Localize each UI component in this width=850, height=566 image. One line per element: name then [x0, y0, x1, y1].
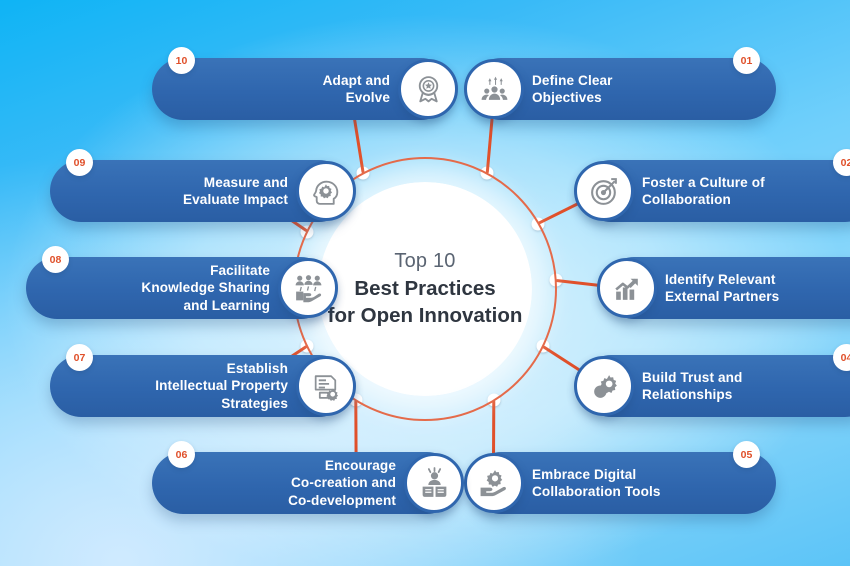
practice-label-line: External Partners — [665, 288, 779, 305]
practice-label-line: Knowledge Sharing — [141, 279, 270, 296]
practice-label-line: Adapt and — [323, 72, 390, 89]
connector-line-10 — [353, 114, 365, 173]
practice-card-06[interactable]: EncourageCo-creation andCo-development06 — [152, 452, 458, 514]
practice-label-line: Measure and — [183, 174, 288, 191]
head-gear-icon — [296, 161, 356, 221]
practice-label-01: Define ClearObjectives — [532, 72, 613, 107]
practice-badge-02: 02 — [833, 149, 850, 176]
connector-line-03 — [556, 279, 602, 287]
practice-card-03[interactable]: Identify RelevantExternal Partners03 — [603, 257, 850, 319]
document-settings-icon — [296, 356, 356, 416]
center-line-1: Top 10 — [394, 249, 455, 274]
practice-badge-04: 04 — [833, 344, 850, 371]
practice-card-02[interactable]: Foster a Culture ofCollaboration02 — [580, 160, 850, 222]
practice-label-line: Evaluate Impact — [183, 191, 288, 208]
practice-label-line: Define Clear — [532, 72, 613, 89]
practice-label-line: Foster a Culture of — [642, 174, 765, 191]
growth-chart-icon — [597, 258, 657, 318]
practice-label-line: Facilitate — [141, 262, 270, 279]
practice-card-04[interactable]: Build Trust andRelationships04 — [580, 355, 850, 417]
practice-badge-10: 10 — [168, 47, 195, 74]
practice-badge-06: 06 — [168, 441, 195, 468]
practice-label-line: Encourage — [288, 457, 396, 474]
center-circle: Top 10 Best Practices for Open Innovatio… — [318, 182, 532, 396]
award-ribbon-icon — [398, 59, 458, 119]
practice-card-10[interactable]: Adapt andEvolve10 — [152, 58, 452, 120]
hand-holding-gear-icon — [464, 453, 524, 513]
hand-people-icon — [278, 258, 338, 318]
practice-card-07[interactable]: EstablishIntellectual PropertyStrategies… — [50, 355, 350, 417]
practice-label-03: Identify RelevantExternal Partners — [665, 271, 779, 306]
connector-line-04 — [542, 345, 583, 373]
people-growth-icon — [464, 59, 524, 119]
practice-label-line: Identify Relevant — [665, 271, 779, 288]
practice-label-line: Co-creation and — [288, 474, 396, 491]
practice-label-10: Adapt andEvolve — [323, 72, 390, 107]
practice-label-line: and Learning — [141, 297, 270, 314]
practice-badge-09: 09 — [66, 149, 93, 176]
practice-label-line: Collaboration — [642, 191, 765, 208]
practice-label-line: Collaboration Tools — [532, 483, 661, 500]
gears-icon — [574, 356, 634, 416]
practice-card-05[interactable]: Embrace DigitalCollaboration Tools05 — [470, 452, 776, 514]
practice-label-08: FacilitateKnowledge Sharingand Learning — [141, 262, 270, 314]
practice-label-line: Intellectual Property — [155, 377, 288, 394]
practice-label-line: Evolve — [323, 89, 390, 106]
connector-line-01 — [485, 115, 493, 174]
practice-label-line: Relationships — [642, 386, 742, 403]
practice-card-09[interactable]: Measure andEvaluate Impact09 — [50, 160, 350, 222]
practice-badge-07: 07 — [66, 344, 93, 371]
practice-card-08[interactable]: FacilitateKnowledge Sharingand Learning0… — [26, 257, 332, 319]
person-book-icon — [404, 453, 464, 513]
practice-label-06: EncourageCo-creation andCo-development — [288, 457, 396, 509]
practice-label-line: Embrace Digital — [532, 466, 661, 483]
practice-badge-05: 05 — [733, 441, 760, 468]
practice-label-line: Build Trust and — [642, 369, 742, 386]
infographic-canvas: Top 10 Best Practices for Open Innovatio… — [0, 0, 850, 566]
practice-card-01[interactable]: Define ClearObjectives01 — [470, 58, 776, 120]
practice-badge-08: 08 — [42, 246, 69, 273]
practice-label-07: EstablishIntellectual PropertyStrategies — [155, 360, 288, 412]
center-line-2: Best Practices — [354, 276, 495, 303]
connector-line-05 — [493, 400, 496, 457]
practice-badge-01: 01 — [733, 47, 760, 74]
center-line-3: for Open Innovation — [328, 303, 523, 330]
practice-label-line: Co-development — [288, 492, 396, 509]
practice-label-05: Embrace DigitalCollaboration Tools — [532, 466, 661, 501]
practice-label-line: Strategies — [155, 395, 288, 412]
practice-label-09: Measure andEvaluate Impact — [183, 174, 288, 209]
target-dartboard-icon — [574, 161, 634, 221]
practice-label-04: Build Trust andRelationships — [642, 369, 742, 404]
connector-line-06 — [354, 400, 357, 457]
practice-label-line: Establish — [155, 360, 288, 377]
connector-line-02 — [538, 201, 581, 224]
practice-label-02: Foster a Culture ofCollaboration — [642, 174, 765, 209]
practice-label-line: Objectives — [532, 89, 613, 106]
